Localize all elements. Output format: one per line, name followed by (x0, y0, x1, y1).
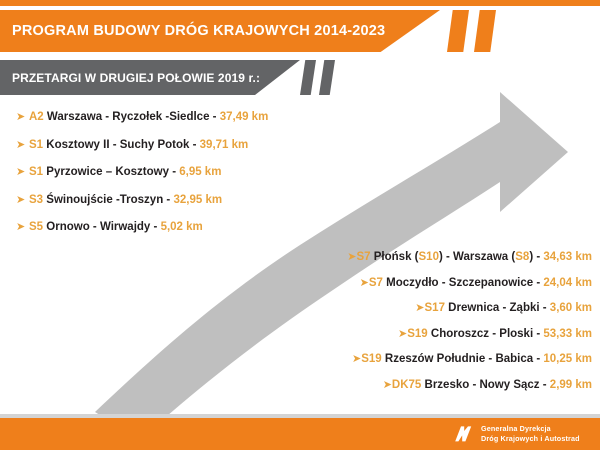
subtitle-band-stripe-2 (319, 60, 335, 95)
subtitle-band-stripe-1 (300, 60, 316, 95)
tender-list-left: ➤A2 Warszawa - Ryczołek -Siedlce - 37,49… (16, 112, 346, 250)
list-item: ➤S1 Pyrzowice – Kosztowy - 6,95 km (16, 167, 346, 179)
route-label: Drewnica - Ząbki (448, 302, 539, 314)
road-code: S7 (369, 277, 383, 289)
distance-value: 10,25 km (543, 353, 592, 365)
road-code: S19 (407, 328, 427, 340)
route-label: Płońsk ( (374, 251, 419, 263)
arrow-bullet-icon: ➤ (16, 222, 29, 233)
brand-text-block: Generalna Dyrekcja Dróg Krajowych i Auto… (481, 424, 580, 445)
list-item: ➤S17 Drewnica - Ząbki - 3,60 km (262, 303, 592, 315)
list-item: ➤DK75 Brzesko - Nowy Sącz - 2,99 km (262, 380, 592, 392)
arrow-bullet-icon: ➤ (356, 278, 369, 289)
gddkia-mark-icon (452, 423, 474, 445)
inline-road-code: S10 (419, 251, 439, 263)
route-label: Pyrzowice – Kosztowy (46, 166, 169, 178)
road-code: S19 (361, 353, 381, 365)
arrow-bullet-icon: ➤ (394, 329, 407, 340)
list-item: ➤S3 Świnoujście -Troszyn - 32,95 km (16, 195, 346, 207)
road-code: S7 (356, 251, 370, 263)
route-label: Choroszcz - Ploski (431, 328, 533, 340)
separator: - (150, 221, 160, 233)
brand-line-1: Generalna Dyrekcja (481, 424, 580, 434)
distance-value: 24,04 km (543, 277, 592, 289)
separator: - (169, 166, 179, 178)
mark-shape (455, 426, 471, 441)
road-code: A2 (29, 111, 44, 123)
page-subtitle: PRZETARGI W DRUGIEJ POŁOWIE 2019 r.: (12, 60, 292, 95)
list-item: ➤S19 Choroszcz - Ploski - 53,33 km (262, 329, 592, 341)
route-label: Brzesko - Nowy Sącz (425, 379, 540, 391)
arrow-bullet-icon: ➤ (16, 195, 29, 206)
separator: - (533, 251, 543, 263)
road-code: S1 (29, 166, 43, 178)
list-item: ➤S19 Rzeszów Południe - Babica - 10,25 k… (262, 354, 592, 366)
separator: - (209, 111, 219, 123)
arrow-bullet-icon: ➤ (16, 167, 29, 178)
distance-value: 32,95 km (173, 194, 222, 206)
separator: - (189, 139, 199, 151)
route-label-mid: ) - Warszawa ( (439, 251, 515, 263)
distance-value: 2,99 km (550, 379, 592, 391)
arrow-bullet-icon: ➤ (412, 303, 425, 314)
separator: - (533, 277, 543, 289)
arrow-bullet-icon: ➤ (343, 252, 356, 263)
separator: - (163, 194, 173, 206)
brand-line-2: Dróg Krajowych i Autostrad (481, 434, 580, 444)
route-label: Ornowo - Wirwajdy (46, 221, 150, 233)
distance-value: 39,71 km (200, 139, 249, 151)
gddkia-logo: Generalna Dyrekcja Dróg Krajowych i Auto… (452, 421, 580, 447)
distance-value: 34,63 km (543, 251, 592, 263)
tender-list-right: ➤S7 Płońsk (S10) - Warszawa (S8) - 34,63… (262, 252, 592, 405)
list-item: ➤S7 Płońsk (S10) - Warszawa (S8) - 34,63… (262, 252, 592, 264)
slide-canvas: PROGRAM BUDOWY DRÓG KRAJOWYCH 2014-2023 … (0, 0, 600, 450)
separator: - (540, 302, 550, 314)
list-item: ➤S5 Ornowo - Wirwajdy - 5,02 km (16, 222, 346, 234)
title-band-stripe-2 (474, 10, 496, 52)
route-label: Rzeszów Południe - Babica (385, 353, 533, 365)
route-label: Świnoujście -Troszyn (46, 194, 163, 206)
distance-value: 6,95 km (179, 166, 221, 178)
list-item: ➤A2 Warszawa - Ryczołek -Siedlce - 37,49… (16, 112, 346, 124)
top-accent-strip (0, 0, 600, 6)
road-code: S3 (29, 194, 43, 206)
route-label: Moczydło - Szczepanowice (386, 277, 533, 289)
road-code: S5 (29, 221, 43, 233)
distance-value: 3,60 km (550, 302, 592, 314)
list-item: ➤S7 Moczydło - Szczepanowice - 24,04 km (262, 278, 592, 290)
arrow-bullet-icon: ➤ (348, 354, 361, 365)
distance-value: 5,02 km (161, 221, 203, 233)
distance-value: 37,49 km (220, 111, 269, 123)
road-code: S1 (29, 139, 43, 151)
list-item: ➤S1 Kosztowy II - Suchy Potok - 39,71 km (16, 140, 346, 152)
distance-value: 53,33 km (543, 328, 592, 340)
arrow-bullet-icon: ➤ (379, 380, 392, 391)
page-title: PROGRAM BUDOWY DRÓG KRAJOWYCH 2014-2023 (12, 10, 432, 52)
arrow-bullet-icon: ➤ (16, 140, 29, 151)
route-label: Warszawa - Ryczołek -Siedlce (47, 111, 210, 123)
road-code: DK75 (392, 379, 421, 391)
route-label: Kosztowy II - Suchy Potok (46, 139, 189, 151)
arrow-bullet-icon: ➤ (16, 112, 29, 123)
separator: - (533, 353, 543, 365)
road-code: S17 (425, 302, 445, 314)
separator: - (533, 328, 543, 340)
separator: - (540, 379, 550, 391)
inline-road-code: S8 (515, 251, 529, 263)
title-band-stripe-1 (447, 10, 469, 52)
